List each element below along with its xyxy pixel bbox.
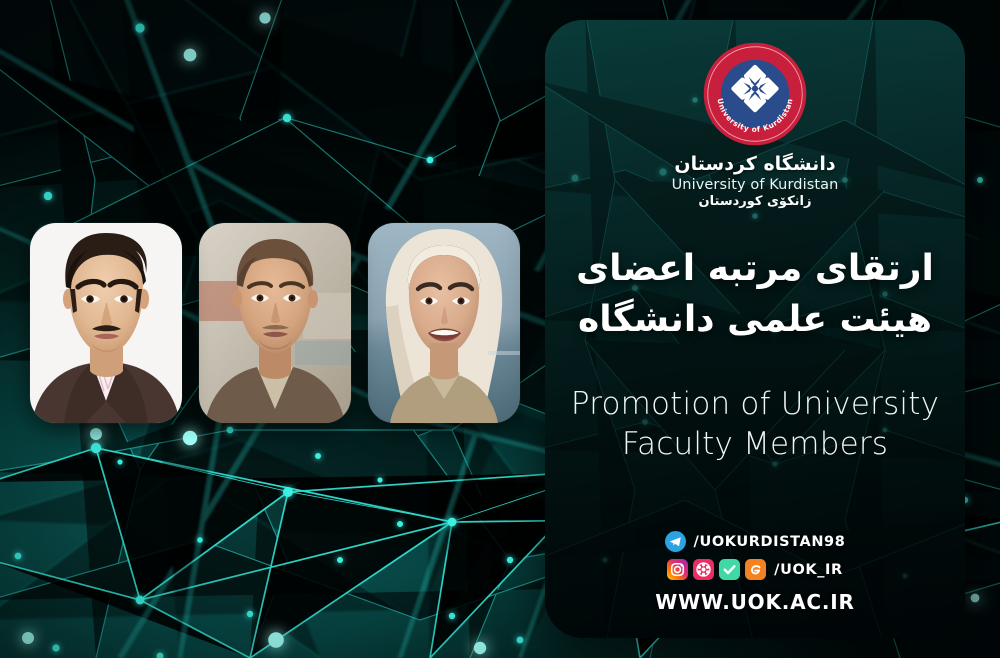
headline-fa: ارتقای مرتبه اعضای هیئت علمی دانشگاه bbox=[555, 243, 955, 345]
portrait-3-image bbox=[30, 223, 182, 423]
social-icons-group bbox=[667, 559, 766, 580]
faculty-portraits-group bbox=[30, 223, 520, 423]
instagram-icon[interactable] bbox=[667, 559, 688, 580]
subtitle-line-1: Promotion of University bbox=[555, 385, 955, 425]
faculty-portrait-1 bbox=[368, 223, 520, 423]
logo-name-en: University of Kurdistan bbox=[672, 177, 839, 193]
social-footer: /UOKURDISTAN98 bbox=[545, 531, 965, 614]
social-icons-row[interactable]: /UOK_IR bbox=[667, 559, 843, 580]
logo-name-ku: زانکۆی کوردستان bbox=[699, 194, 812, 209]
faculty-portrait-3 bbox=[30, 223, 182, 423]
university-of-kurdistan-seal-icon: دانشگاه کردستان University of Kurdistan bbox=[701, 40, 809, 148]
faculty-portrait-2 bbox=[199, 223, 351, 423]
social-handle[interactable]: /UOK_IR bbox=[774, 562, 843, 578]
telegram-icon[interactable] bbox=[665, 531, 686, 552]
promotion-banner: دانشگاه کردستان University of Kurdistan bbox=[0, 0, 1000, 658]
headline-line-1: ارتقای مرتبه اعضای bbox=[555, 243, 955, 294]
portrait-1-image bbox=[368, 223, 520, 423]
aparat-icon[interactable] bbox=[693, 559, 714, 580]
portrait-2-image bbox=[199, 223, 351, 423]
content-panel: دانشگاه کردستان University of Kurdistan bbox=[545, 20, 965, 638]
university-logo-block: دانشگاه کردستان University of Kurdistan bbox=[672, 40, 839, 209]
bale-icon[interactable] bbox=[719, 559, 740, 580]
telegram-row[interactable]: /UOKURDISTAN98 bbox=[665, 531, 846, 552]
headline-line-2: هیئت علمی دانشگاه bbox=[555, 294, 955, 345]
website-url[interactable]: WWW.UOK.AC.IR bbox=[655, 590, 854, 614]
telegram-handle[interactable]: /UOKURDISTAN98 bbox=[694, 534, 846, 550]
eitaa-icon[interactable] bbox=[745, 559, 766, 580]
logo-name-fa: دانشگاه کردستان bbox=[674, 154, 835, 176]
subtitle-en: Promotion of University Faculty Members bbox=[555, 385, 955, 464]
subtitle-line-2: Faculty Members bbox=[555, 425, 955, 465]
